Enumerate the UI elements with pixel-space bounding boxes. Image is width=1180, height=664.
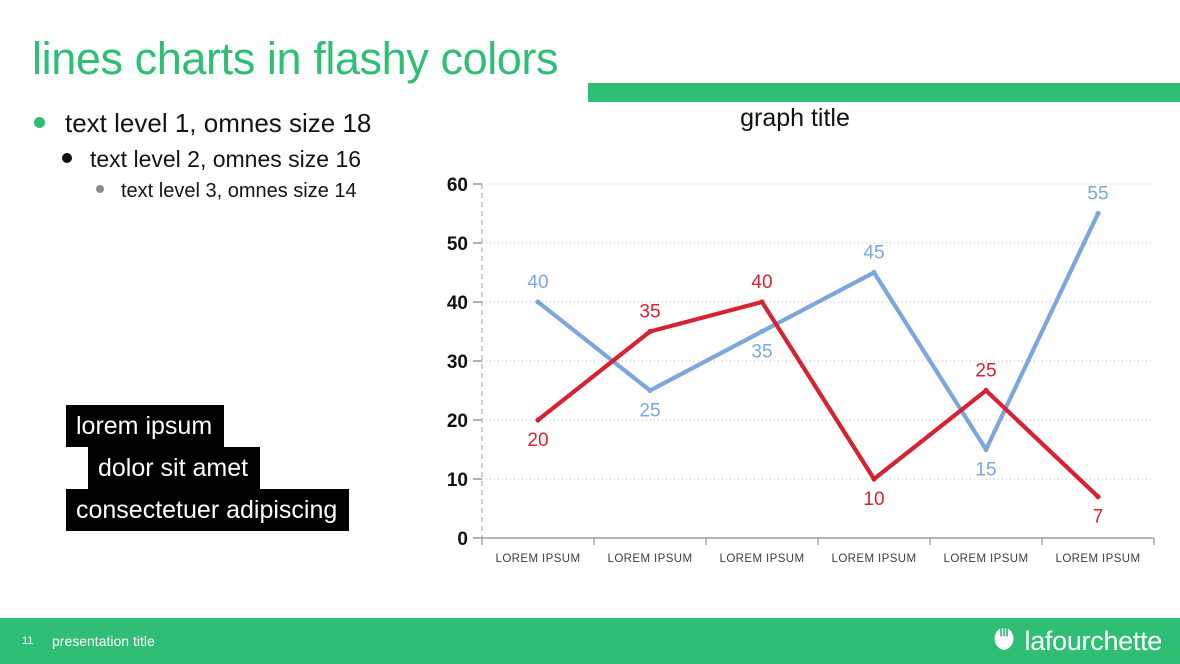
data-label: 40 [527, 272, 548, 293]
data-point [759, 329, 764, 334]
bullet-dot-icon [34, 117, 45, 128]
brand-logo: lafourchette [989, 618, 1163, 664]
y-axis-tick-label: 20 [447, 411, 468, 432]
y-axis-tick-label: 40 [447, 293, 468, 314]
brand-logo-text: lafourchette [1025, 628, 1163, 655]
data-label: 35 [639, 302, 660, 323]
data-point [535, 299, 540, 304]
data-point [1095, 494, 1100, 499]
line-chart-svg: 0102030405060LOREM IPSUMLOREM IPSUMLOREM… [430, 170, 1170, 590]
data-label: 45 [863, 243, 884, 264]
data-label: 10 [863, 489, 884, 510]
data-point [647, 329, 652, 334]
highlight-line: consectetuer adipiscing [66, 489, 349, 531]
footer-title: presentation title [52, 618, 155, 664]
x-axis-tick-label: LOREM IPSUM [720, 553, 805, 565]
data-point [871, 270, 876, 275]
data-label: 25 [975, 361, 996, 382]
x-axis-tick-label: LOREM IPSUM [1056, 553, 1141, 565]
chart-plot-area: 0102030405060LOREM IPSUMLOREM IPSUMLOREM… [430, 170, 1170, 590]
footer-bar: 11 presentation title lafourchette [0, 618, 1180, 664]
x-axis-tick-label: LOREM IPSUM [608, 553, 693, 565]
y-axis-tick-label: 50 [447, 234, 468, 255]
page-title: lines charts in flashy colors [32, 28, 558, 90]
y-axis-tick-label: 10 [447, 470, 468, 491]
data-point [1095, 211, 1100, 216]
data-label: 25 [639, 401, 660, 422]
y-axis-tick-label: 60 [447, 175, 468, 196]
list-item-label: text level 1, omnes size 18 [65, 108, 371, 139]
data-point [871, 476, 876, 481]
title-row: lines charts in flashy colors [0, 28, 1180, 90]
x-axis-tick-label: LOREM IPSUM [496, 553, 581, 565]
list-item-label: text level 2, omnes size 16 [90, 146, 361, 173]
series-line-blue-series [538, 214, 1098, 450]
highlight-text-block: lorem ipsum dolor sit amet consectetuer … [66, 405, 349, 531]
chart-title: graph title [430, 104, 1160, 133]
highlight-line: lorem ipsum [66, 405, 224, 447]
data-point [535, 417, 540, 422]
fork-spoon-icon [989, 624, 1019, 659]
data-label: 35 [751, 342, 772, 363]
title-accent-bar [588, 83, 1180, 102]
bullet-list: text level 1, omnes size 18 text level 2… [34, 108, 434, 203]
x-axis-tick-label: LOREM IPSUM [832, 553, 917, 565]
list-item-label: text level 3, omnes size 14 [121, 180, 357, 203]
highlight-line: dolor sit amet [88, 447, 260, 489]
data-label: 20 [527, 430, 548, 451]
data-label: 7 [1093, 507, 1104, 528]
y-axis-tick-label: 0 [457, 529, 468, 550]
x-axis-tick-label: LOREM IPSUM [944, 553, 1029, 565]
data-label: 40 [751, 272, 772, 293]
slide-canvas: lines charts in flashy colors text level… [0, 0, 1180, 664]
bullet-dot-icon [96, 185, 104, 193]
bullet-dot-icon [62, 153, 72, 163]
data-label: 15 [975, 460, 996, 481]
list-item: text level 1, omnes size 18 [34, 108, 434, 139]
data-point [983, 388, 988, 393]
data-point [759, 299, 764, 304]
data-label: 55 [1087, 184, 1108, 205]
y-axis-tick-label: 30 [447, 352, 468, 373]
series-line-red-series [538, 302, 1098, 497]
list-item: text level 2, omnes size 16 [34, 146, 434, 173]
chart-container: graph title 0102030405060LOREM IPSUMLORE… [430, 104, 1170, 594]
list-item: text level 3, omnes size 14 [34, 180, 434, 203]
data-point [647, 388, 652, 393]
data-point [983, 447, 988, 452]
footer-page-number: 11 [22, 618, 33, 664]
